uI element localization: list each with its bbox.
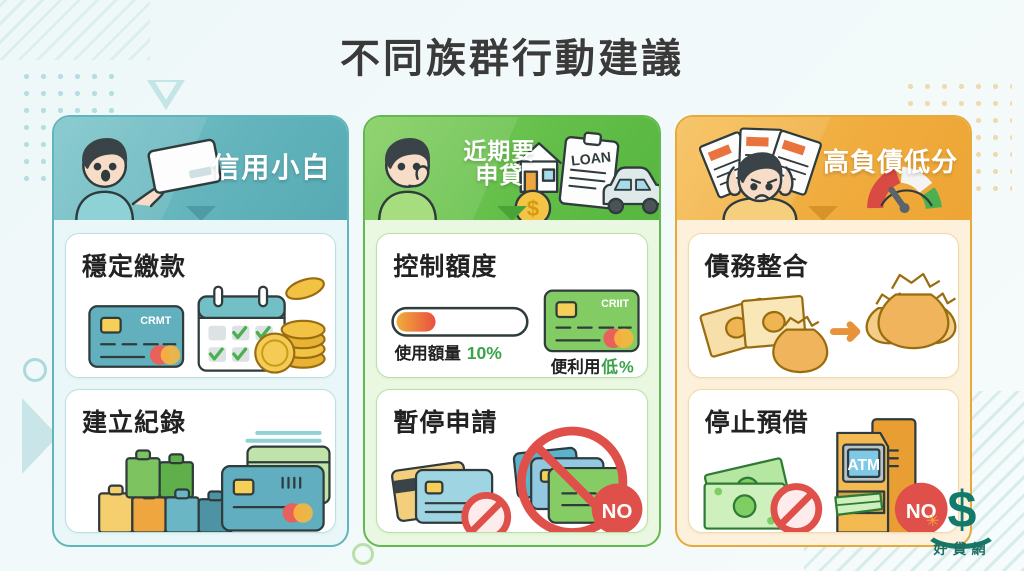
logo-brand-name: 好貸網 [914, 539, 1010, 559]
column-header-high-debt: 高負債低分 [677, 117, 970, 220]
panel-stable-payment[interactable]: 穩定繳款 CRMT [65, 233, 336, 378]
header-notch [497, 206, 527, 220]
no-badge-label: NO [602, 499, 633, 522]
column-header-title: 近期要 申貸 [463, 139, 535, 187]
card-caption-prefix: 便利用 [551, 357, 601, 377]
panel-pause-application[interactable]: 暫停申請 [376, 389, 647, 534]
brand-logo: ✳ $ 好貸網 [914, 481, 1010, 563]
column-credit-newbie: 信用小白 穩定繳款 [52, 115, 349, 547]
column-header-title: 信用小白 [211, 153, 331, 182]
logo-dollar-symbol: $ [914, 481, 1010, 539]
column-body-credit-newbie: 穩定繳款 CRMT [54, 220, 347, 545]
decorative-ring-teal [23, 358, 47, 382]
panel-label: 穩定繳款 [82, 247, 186, 283]
panel-label: 控制額度 [393, 247, 497, 283]
atm-label: ATM [847, 457, 880, 474]
panel-label: 建立紀錄 [82, 403, 186, 439]
column-header-credit-newbie: 信用小白 [54, 117, 347, 220]
decorative-triangle-top [147, 80, 185, 110]
column-body-applying-loan: 控制額度 使用額量 10% [365, 220, 658, 545]
panel-debt-consolidation[interactable]: 債務整合 [688, 233, 959, 378]
panel-label: 暫停申請 [393, 403, 497, 439]
meter-label: 使用額量 [394, 343, 462, 363]
panel-label: 停止預借 [705, 403, 809, 439]
meter-value: 10% [467, 343, 503, 363]
panel-build-record[interactable]: 建立紀錄 [65, 389, 336, 534]
panel-label: 債務整合 [705, 247, 809, 283]
header-notch [808, 206, 838, 220]
svg-text:$: $ [527, 196, 540, 220]
column-applying-loan-soon: $ LOAN [363, 115, 660, 547]
header-title-line-1: 近期要 [463, 139, 535, 163]
card-label: CRIIT [601, 298, 629, 310]
card-caption-suffix: % [619, 358, 634, 377]
advice-columns: 信用小白 穩定繳款 [52, 115, 972, 547]
column-header-applying-loan: $ LOAN [365, 117, 658, 220]
header-notch [186, 206, 216, 220]
column-header-title: 高負債低分 [823, 149, 958, 176]
page-title: 不同族群行動建議 [0, 26, 1024, 84]
infographic-canvas: 不同族群行動建議 [0, 0, 1024, 571]
header-title-line-2: 申貸 [463, 163, 535, 187]
card-label: CRMT [140, 315, 171, 327]
panel-control-credit-limit[interactable]: 控制額度 使用額量 10% [376, 233, 647, 378]
card-caption-highlight: 低 [601, 357, 619, 377]
